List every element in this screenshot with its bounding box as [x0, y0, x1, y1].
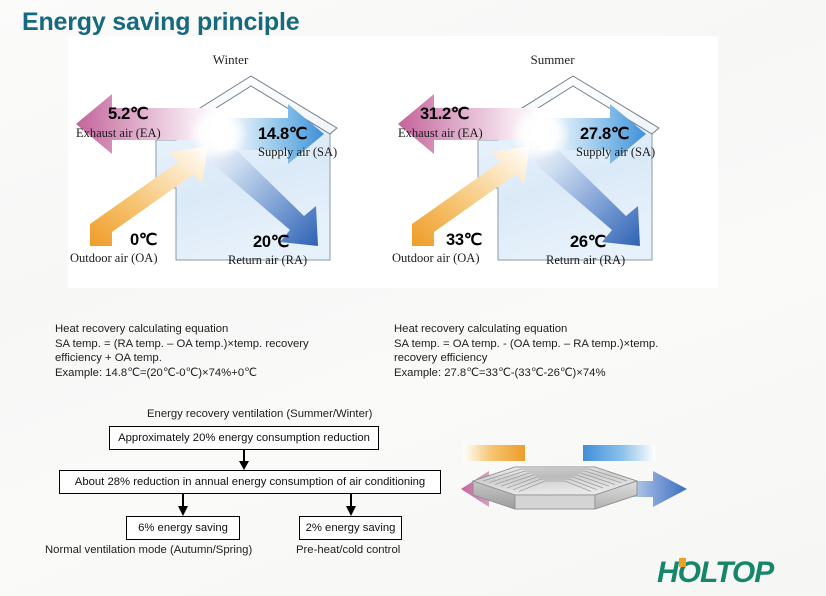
flowchart-left-caption: Normal ventilation mode (Autumn/Spring)	[45, 544, 252, 556]
winter-return-temp: 20℃	[253, 232, 289, 252]
winter-outdoor-temp: 0℃	[130, 230, 157, 250]
winter-exhaust-temp: 5.2℃	[108, 104, 148, 124]
flow-box-20-percent: Approximately 20% energy consumption red…	[109, 426, 379, 450]
winter-supply-temp: 14.8℃	[258, 124, 307, 144]
holtop-logo: HOLTOP	[657, 556, 773, 590]
summer-outdoor-label: Outdoor air (OA)	[392, 251, 479, 266]
flowchart-top-caption: Energy recovery ventilation (Summer/Wint…	[147, 408, 372, 420]
summer-diagram: Summer	[390, 36, 715, 288]
winter-exhaust-label: Exhaust air (EA)	[76, 126, 161, 141]
flow-box-2-percent: 2% energy saving	[299, 516, 402, 540]
summer-exhaust-label: Exhaust air (EA)	[398, 126, 483, 141]
winter-supply-label: Supply air (SA)	[258, 145, 337, 160]
flow-arrow-down-icon	[237, 450, 251, 470]
summer-return-temp: 26℃	[570, 232, 606, 252]
summer-return-label: Return air (RA)	[546, 253, 625, 268]
energy-saving-flowchart: Energy recovery ventilation (Summer/Wint…	[45, 404, 445, 564]
flow-box-28-percent: About 28% reduction in annual energy con…	[59, 470, 441, 494]
summer-supply-label: Supply air (SA)	[576, 145, 655, 160]
winter-outdoor-label: Outdoor air (OA)	[70, 251, 157, 266]
summer-exhaust-temp: 31.2℃	[420, 104, 469, 124]
winter-diagram: Winter	[68, 36, 393, 288]
heat-exchanger-core-illustration	[455, 443, 715, 523]
summer-equation-text: Heat recovery calculating equation SA te…	[394, 322, 729, 380]
summer-supply-temp: 27.8℃	[580, 124, 629, 144]
flow-arrow-down-right-icon	[344, 494, 358, 516]
summer-outdoor-temp: 33℃	[446, 230, 482, 250]
winter-equation-text: Heat recovery calculating equation SA te…	[55, 322, 385, 380]
logo-text: HOLTOP	[657, 556, 773, 589]
winter-return-label: Return air (RA)	[228, 253, 307, 268]
logo-accent-icon	[679, 558, 686, 567]
page-title: Energy saving principle	[22, 8, 299, 37]
flowchart-right-caption: Pre-heat/cold control	[296, 544, 400, 556]
flow-arrow-down-left-icon	[176, 494, 190, 516]
flow-box-6-percent: 6% energy saving	[126, 516, 240, 540]
diagram-panel: Winter	[68, 36, 718, 288]
